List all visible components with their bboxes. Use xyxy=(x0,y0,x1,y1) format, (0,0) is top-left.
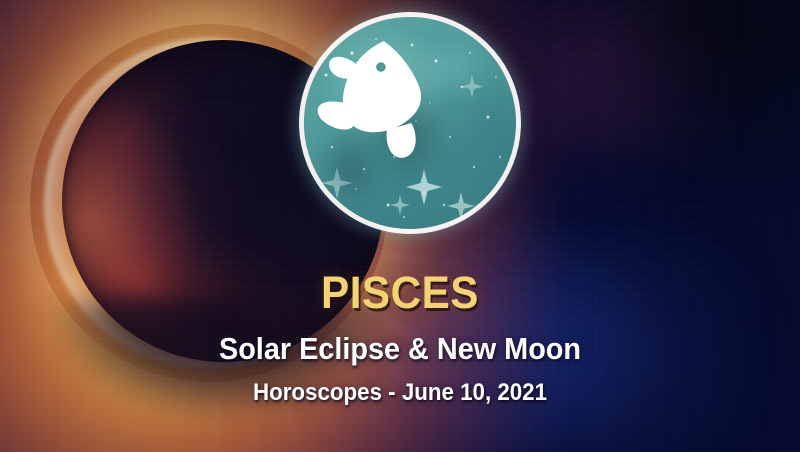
horoscope-date: Horoscopes - June 10, 2021 xyxy=(28,377,772,409)
pisces-zodiac-emblem xyxy=(299,12,521,234)
event-subtitle: Solar Eclipse & New Moon xyxy=(28,329,772,369)
zodiac-sign-title: PISCES xyxy=(24,268,776,318)
headline-block: PISCES Solar Eclipse & New Moon Horoscop… xyxy=(0,268,800,409)
horoscope-banner: PISCES Solar Eclipse & New Moon Horoscop… xyxy=(0,0,800,452)
emblem-ring-border xyxy=(299,12,521,234)
